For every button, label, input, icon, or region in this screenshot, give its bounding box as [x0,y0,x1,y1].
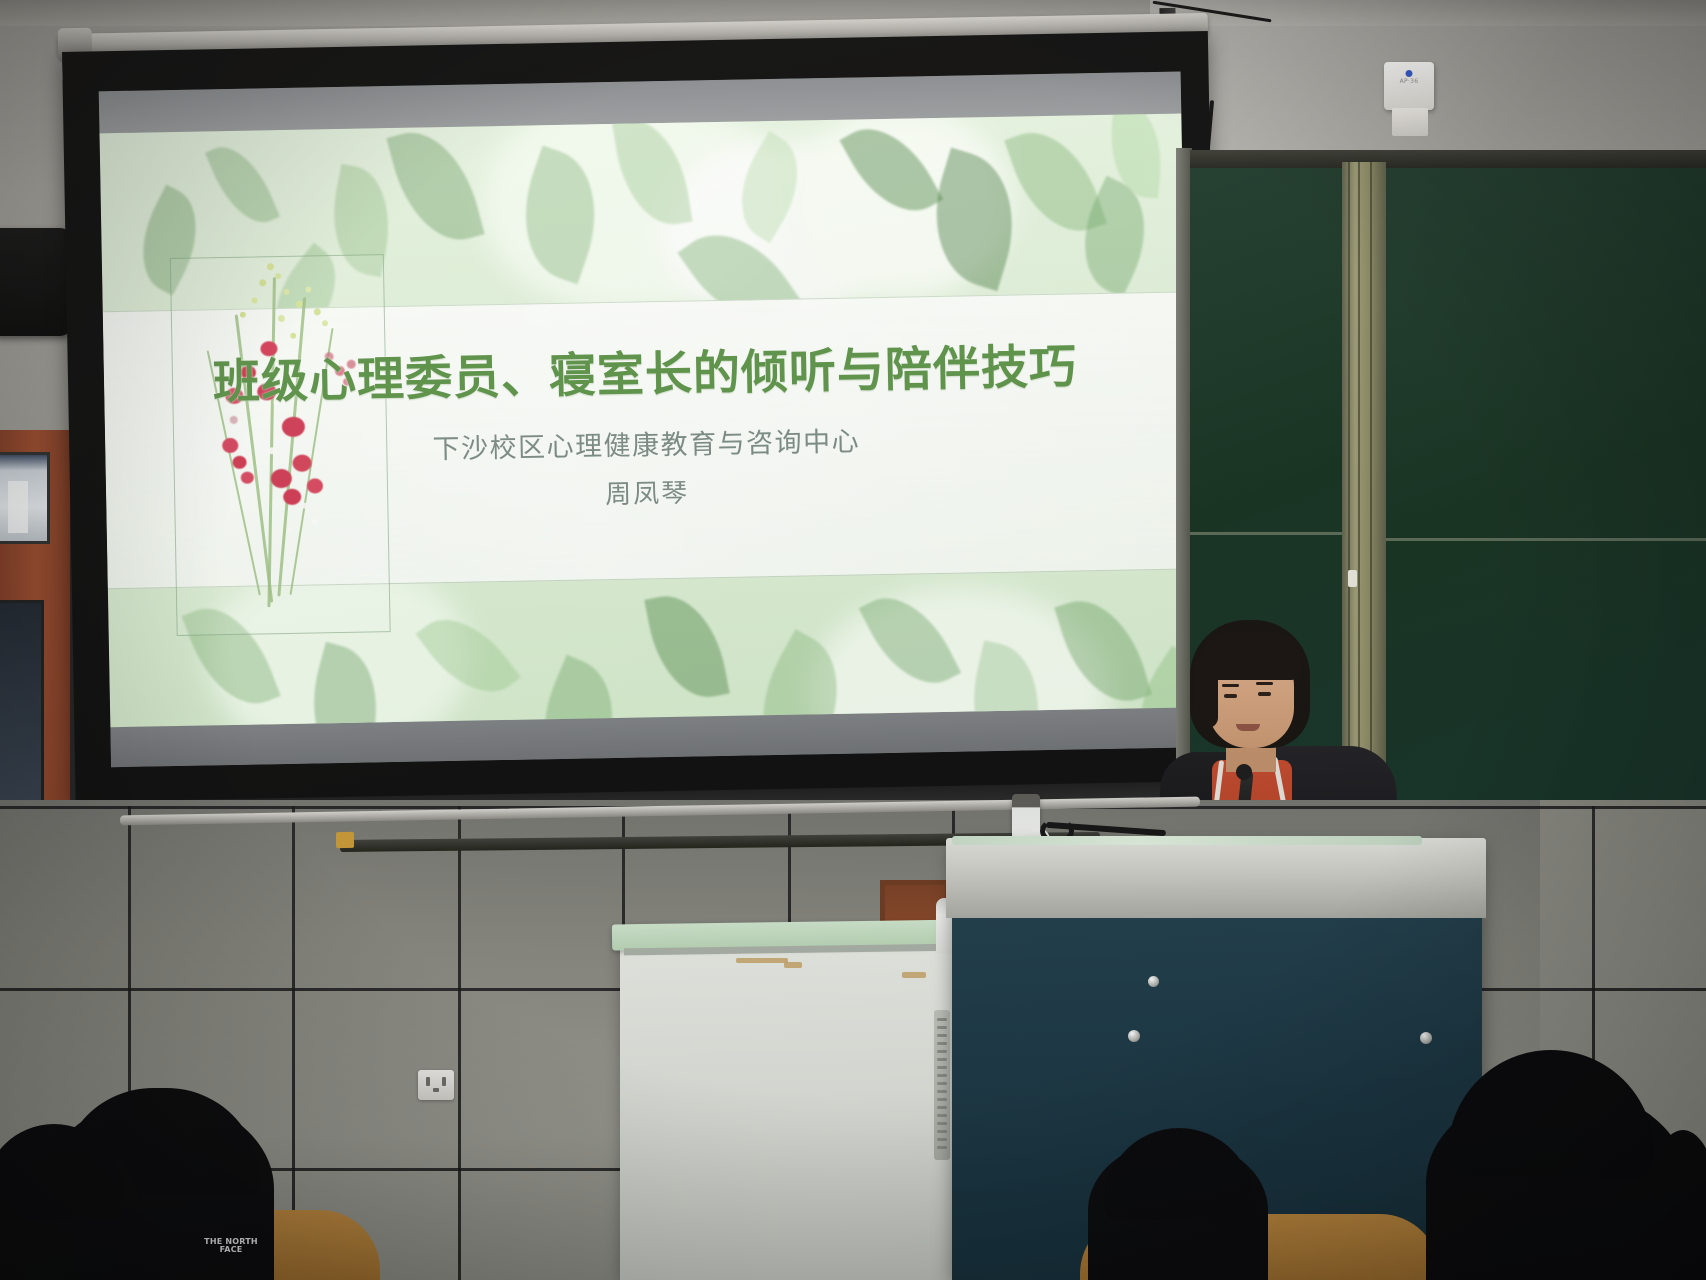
rail-end-cap [336,832,354,848]
blackboard-panel-right [1386,168,1706,840]
desk-vent-grille [934,1010,950,1160]
side-desk-body [620,930,960,1280]
lectern-top-rail [946,838,1486,918]
wifi-indicator-icon [1406,70,1413,77]
hair-side [1194,656,1218,728]
chalk-piece [1348,570,1357,587]
lectern-top-surface [952,836,1422,845]
presentation-slide: 班级心理委员、寝室长的倾听与陪伴技巧 下沙校区心理健康教育与咨询中心 周凤琴 [99,113,1192,727]
jacket-brand-label: THE NORTH FACE [196,1238,266,1254]
microphone-head-icon [1236,764,1252,780]
wifi-access-point: AP·36 [1384,62,1434,110]
wall-speaker [0,228,72,336]
projection-screen: 班级心理委员、寝室长的倾听与陪伴技巧 下沙校区心理健康教育与咨询中心 周凤琴 [62,31,1222,802]
screen-surface: 班级心理委员、寝室长的倾听与陪伴技巧 下沙校区心理健康教育与咨询中心 周凤琴 [99,72,1193,768]
power-outlet [418,1070,454,1100]
lecture-hall-photo: AP·36 Screen [0,0,1706,1280]
wifi-mount-box [1392,108,1428,136]
mouth [1236,724,1260,731]
audience-member-body-5 [1648,1130,1706,1280]
wifi-ap-label: AP·36 [1384,78,1434,85]
window-pane-upper [0,452,50,544]
blackboard-top-frame [1190,150,1706,168]
